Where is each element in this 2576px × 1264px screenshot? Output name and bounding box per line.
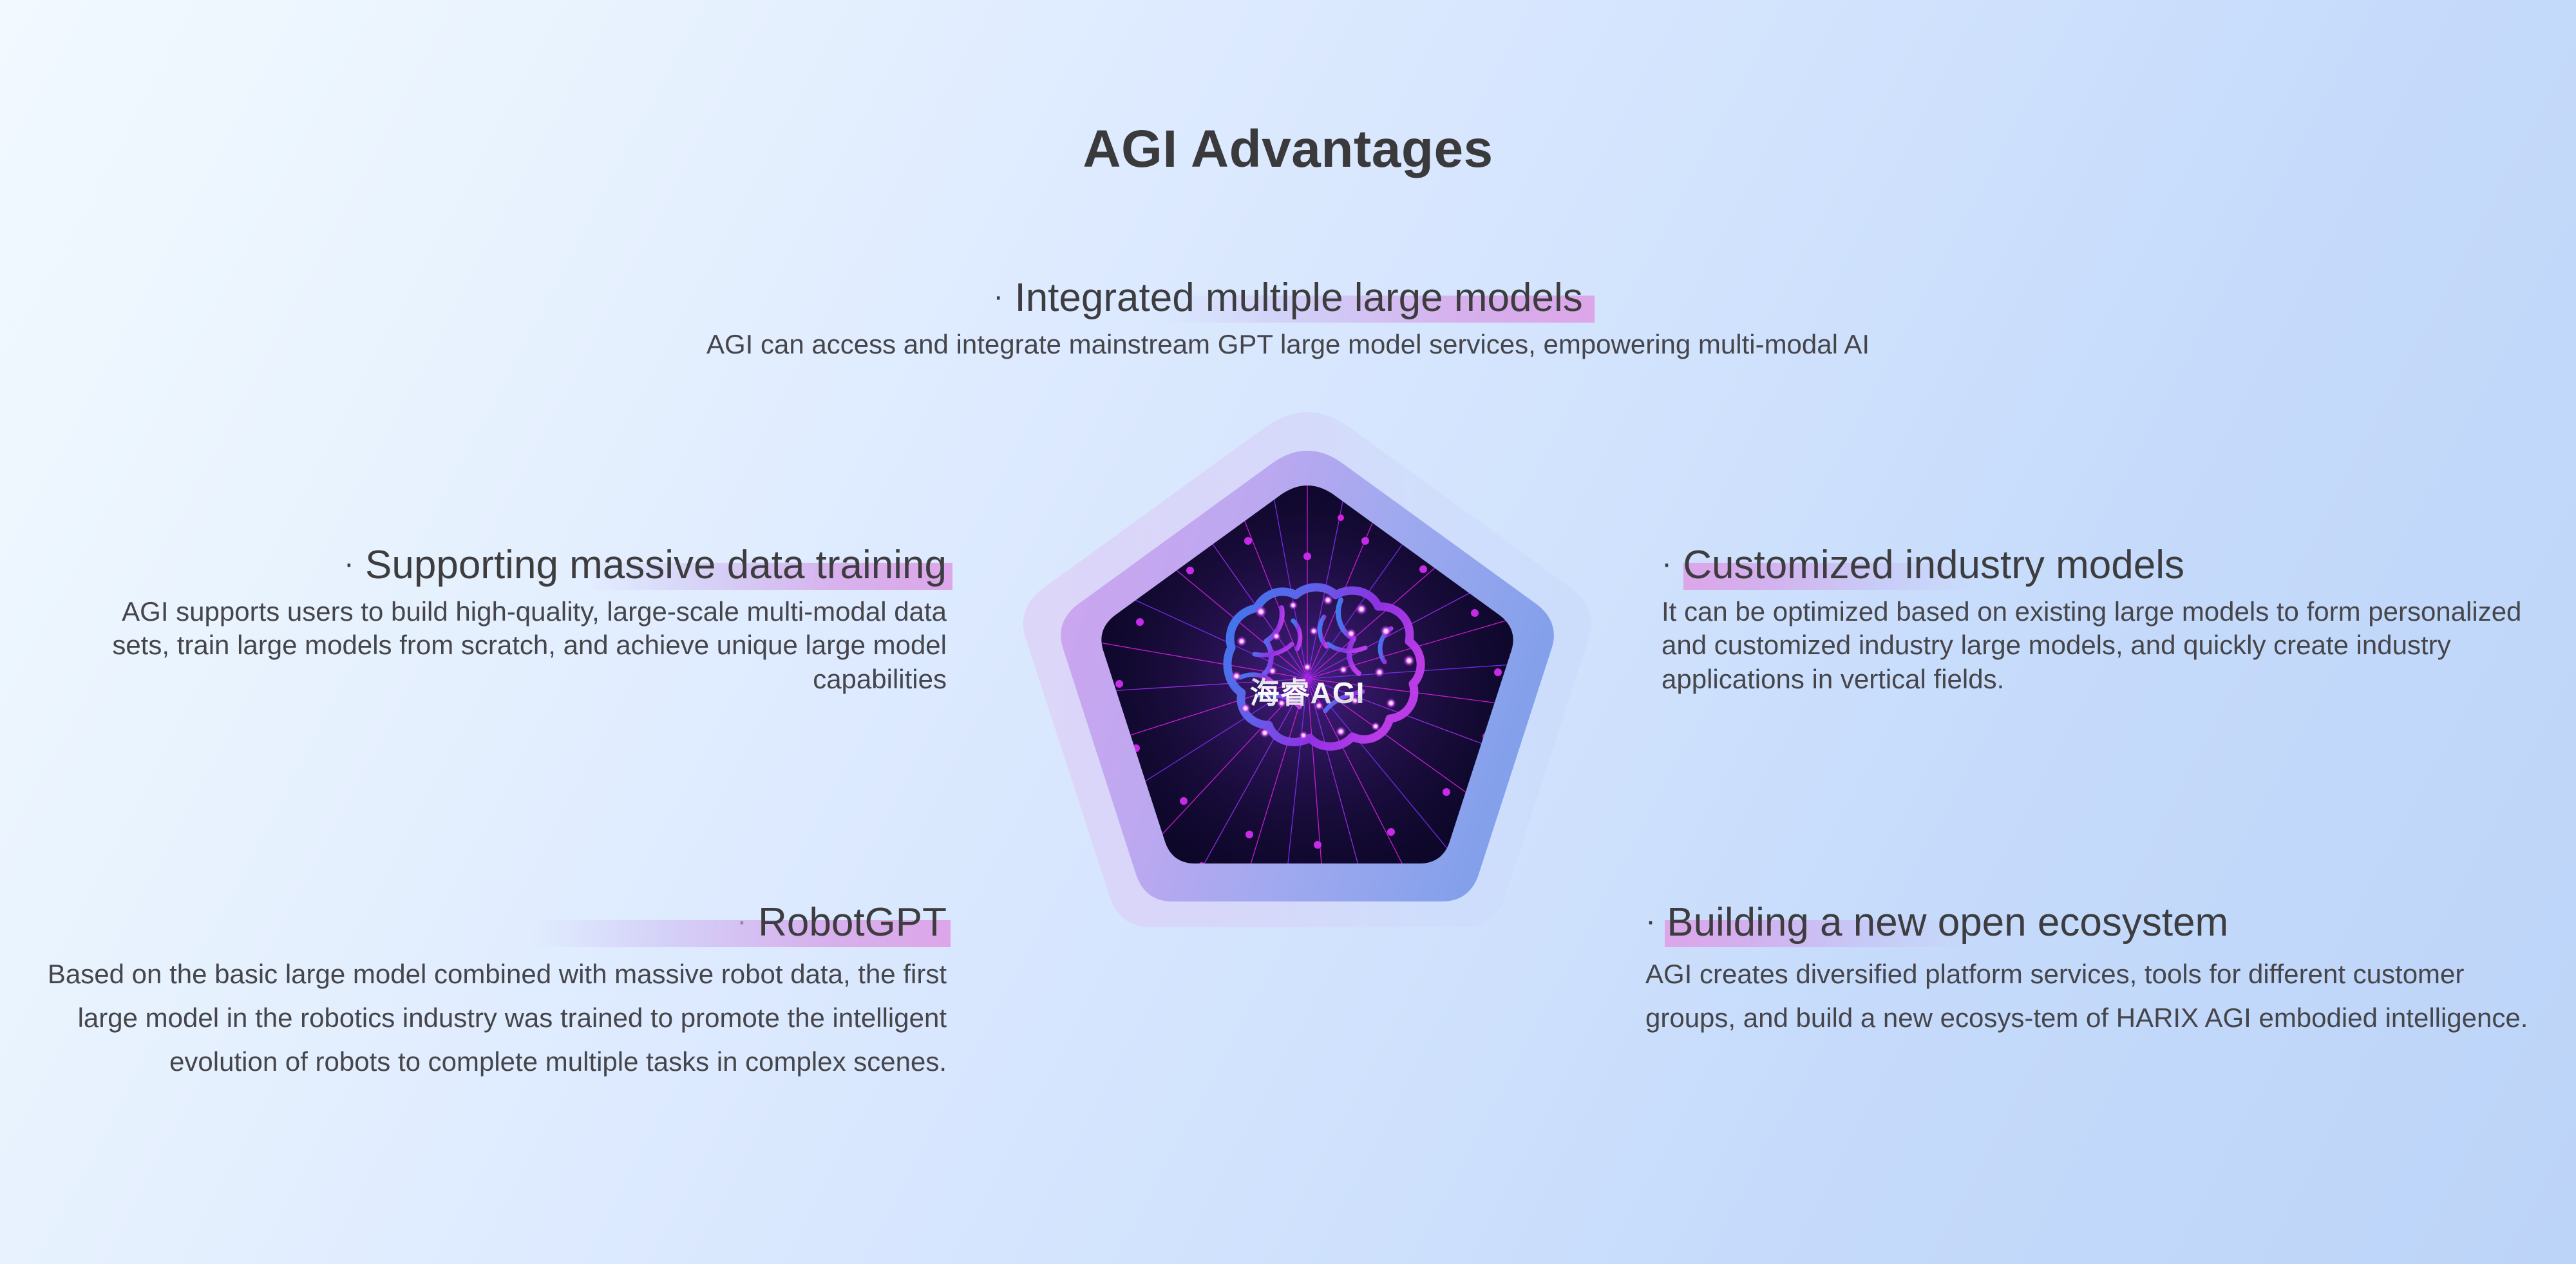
section-body-text: AGI creates diversified platform service…	[1645, 952, 2547, 1040]
bullet-dot-icon: ·	[993, 279, 1003, 314]
section-heading: · Customized industry models	[1662, 544, 2184, 587]
section-body-text: It can be optimized based on existing la…	[1662, 595, 2531, 697]
bullet-dot-icon: ·	[1662, 547, 1672, 581]
section-body-text: AGI supports users to build high-quality…	[71, 595, 947, 697]
infographic-canvas: AGI Advantages	[0, 0, 2576, 1264]
section-customized-industry-models: · Customized industry models It can be o…	[1662, 544, 2531, 696]
section-body-text: AGI can access and integrate mainstream …	[515, 328, 2061, 362]
section-integrated-multiple-large-models: · Integrated multiple large models AGI c…	[515, 277, 2061, 361]
section-heading-text: Customized industry models	[1683, 543, 2184, 587]
center-graphic-brain-pentagon: 海睿AGI	[1008, 394, 1607, 1096]
section-heading: · Building a new open ecosystem	[1645, 901, 2228, 945]
section-heading: · RobotGPT	[737, 901, 947, 945]
bullet-dot-icon: ·	[344, 547, 354, 581]
section-robotgpt: · RobotGPT Based on the basic large mode…	[45, 901, 947, 1084]
section-supporting-massive-data-training: · Supporting massive data training AGI s…	[71, 544, 947, 696]
section-heading-text: Supporting massive data training	[365, 543, 947, 587]
section-heading: · Integrated multiple large models	[993, 277, 1582, 320]
section-body-text: Based on the basic large model combined …	[45, 952, 947, 1084]
pentagon-core-dark: 海睿AGI	[1088, 479, 1526, 894]
section-heading-text: RobotGPT	[758, 900, 947, 945]
bullet-dot-icon: ·	[1645, 904, 1656, 938]
bullet-dot-icon: ·	[737, 904, 747, 938]
brand-label-hairui-agi: 海睿AGI	[1088, 670, 1526, 712]
section-heading: · Supporting massive data training	[344, 544, 947, 587]
section-heading-text: Integrated multiple large models	[1014, 276, 1582, 320]
page-title: AGI Advantages	[0, 119, 2576, 180]
section-heading-text: Building a new open ecosystem	[1667, 900, 2228, 945]
section-building-a-new-open-ecosystem: · Building a new open ecosystem AGI crea…	[1645, 901, 2547, 1040]
